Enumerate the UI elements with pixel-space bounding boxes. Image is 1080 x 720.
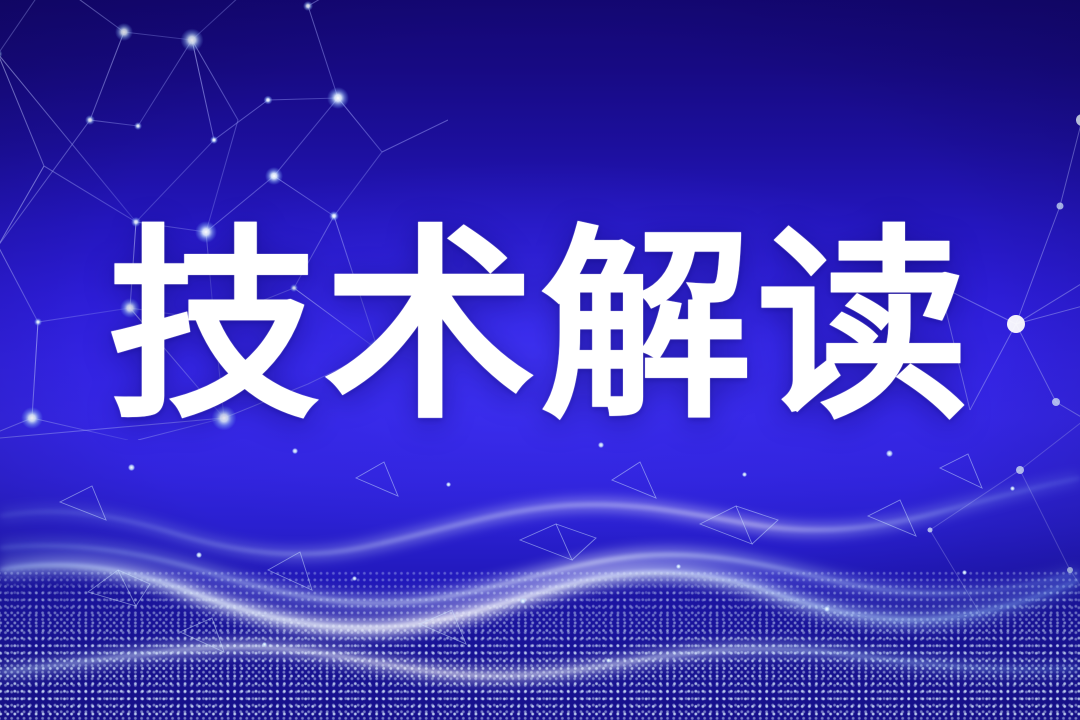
title-banner: 技术解读: [0, 0, 1080, 720]
page-title: 技术解读: [107, 224, 972, 430]
headline-container: 技术解读: [0, 0, 1080, 720]
